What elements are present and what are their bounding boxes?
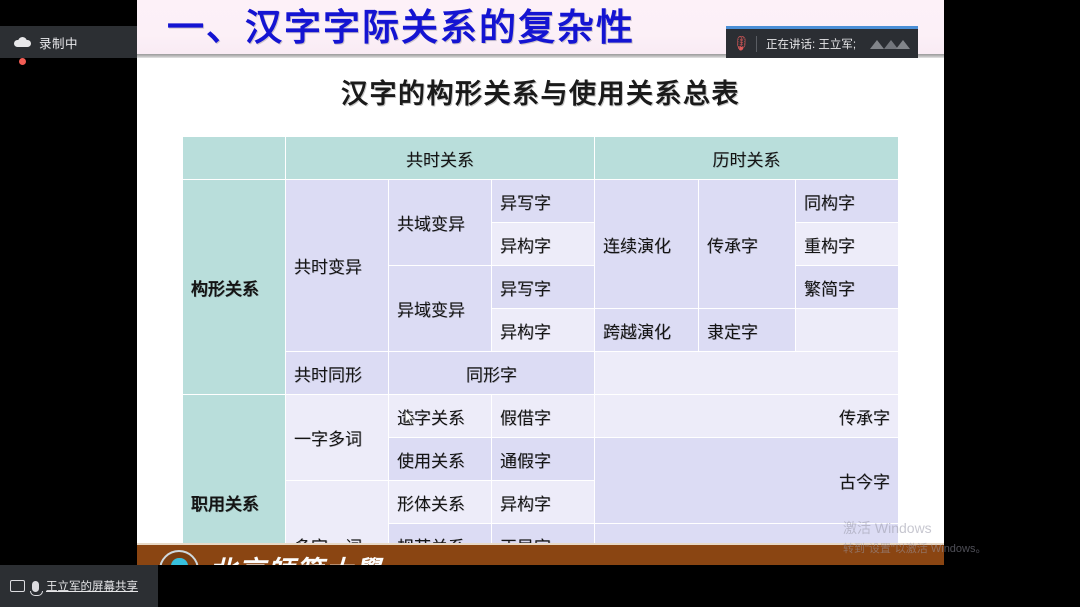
cell-r4-c2: 同形字 xyxy=(389,352,595,395)
screen-share-label: 王立军的屏幕共享 xyxy=(46,578,138,594)
audio-wave-icon xyxy=(868,36,912,52)
cell-r3-c3: 异构字 xyxy=(492,309,595,352)
screen-share-icon xyxy=(10,580,25,592)
cell-r5-c4: 传承字 xyxy=(595,395,899,438)
cell-r4-c4 xyxy=(595,352,899,395)
cell-r2-c6: 繁简字 xyxy=(796,266,899,309)
table-title: 汉字的构形关系与使用关系总表 xyxy=(137,72,944,111)
cell-r0-c4: 连续演化 xyxy=(595,180,699,309)
table-row: 职用关系 一字多词 造字关系 假借字 传承字 xyxy=(183,395,899,438)
cell-r1-c3: 异构字 xyxy=(492,223,595,266)
cell-r4-c1: 共时同形 xyxy=(286,352,389,395)
cell-r0-c2: 共域变异 xyxy=(389,180,492,266)
cell-r0-c6: 同构字 xyxy=(796,180,899,223)
bottom-taskbar: 王立军的屏幕共享 xyxy=(0,565,1080,607)
shared-slide: 一、汉字字际关系的复杂性 汉字的构形关系与使用关系总表 共时关系 历时关系 构形… xyxy=(137,0,944,591)
cell-r0-c3: 异写字 xyxy=(492,180,595,223)
cell-r2-c2: 异域变异 xyxy=(389,266,492,352)
table-row: 共时同形 同形字 xyxy=(183,352,899,395)
cell-r7-c3: 异构字 xyxy=(492,481,595,524)
cell-r5-c3: 假借字 xyxy=(492,395,595,438)
table-row: 构形关系 共时变异 共域变异 异写字 连续演化 传承字 同构字 xyxy=(183,180,899,223)
cell-r7-c2: 形体关系 xyxy=(389,481,492,524)
microphone-icon xyxy=(32,581,39,592)
recording-indicator[interactable]: 录制中 xyxy=(0,26,158,58)
cell-r3-c6 xyxy=(796,309,899,352)
row-label-goxing: 构形关系 xyxy=(183,180,286,395)
header-diachronic: 历时关系 xyxy=(595,137,899,180)
cell-r6-c3: 通假字 xyxy=(492,438,595,481)
meeting-window: 录制中 一、汉字字际关系的复杂性 汉字的构形关系与使用关系总表 共时关系 历时关… xyxy=(0,0,1080,607)
cell-r2-c3: 异写字 xyxy=(492,266,595,309)
header-corner xyxy=(183,137,286,180)
cell-r0-c5: 传承字 xyxy=(699,180,796,309)
header-synchronic: 共时关系 xyxy=(286,137,595,180)
cell-r0-c1: 共时变异 xyxy=(286,180,389,352)
cell-r6-c2: 使用关系 xyxy=(389,438,492,481)
mouse-cursor xyxy=(404,409,416,426)
microphone-muted-icon: 🎙 xyxy=(724,31,758,56)
relations-table: 共时关系 历时关系 构形关系 共时变异 共域变异 异写字 连续演化 传承字 同构… xyxy=(182,136,899,591)
active-speaker-overlay[interactable]: 🎙 正在讲话: 王立军; xyxy=(726,26,918,58)
cell-r3-c5: 隶定字 xyxy=(699,309,796,352)
cell-r6-c4: 古今字 xyxy=(595,438,899,524)
recording-dot-icon xyxy=(19,58,26,65)
cell-r5-c1: 一字多词 xyxy=(286,395,389,481)
screen-share-indicator[interactable]: 王立军的屏幕共享 xyxy=(0,565,158,607)
table-header-row: 共时关系 历时关系 xyxy=(183,137,899,180)
slide-heading: 一、汉字字际关系的复杂性 xyxy=(167,2,635,54)
cell-r3-c4: 跨越演化 xyxy=(595,309,699,352)
recording-label: 录制中 xyxy=(39,33,78,52)
active-speaker-label: 正在讲话: 王立军; xyxy=(766,36,868,52)
cloud-icon xyxy=(14,37,31,47)
cell-r1-c6: 重构字 xyxy=(796,223,899,266)
